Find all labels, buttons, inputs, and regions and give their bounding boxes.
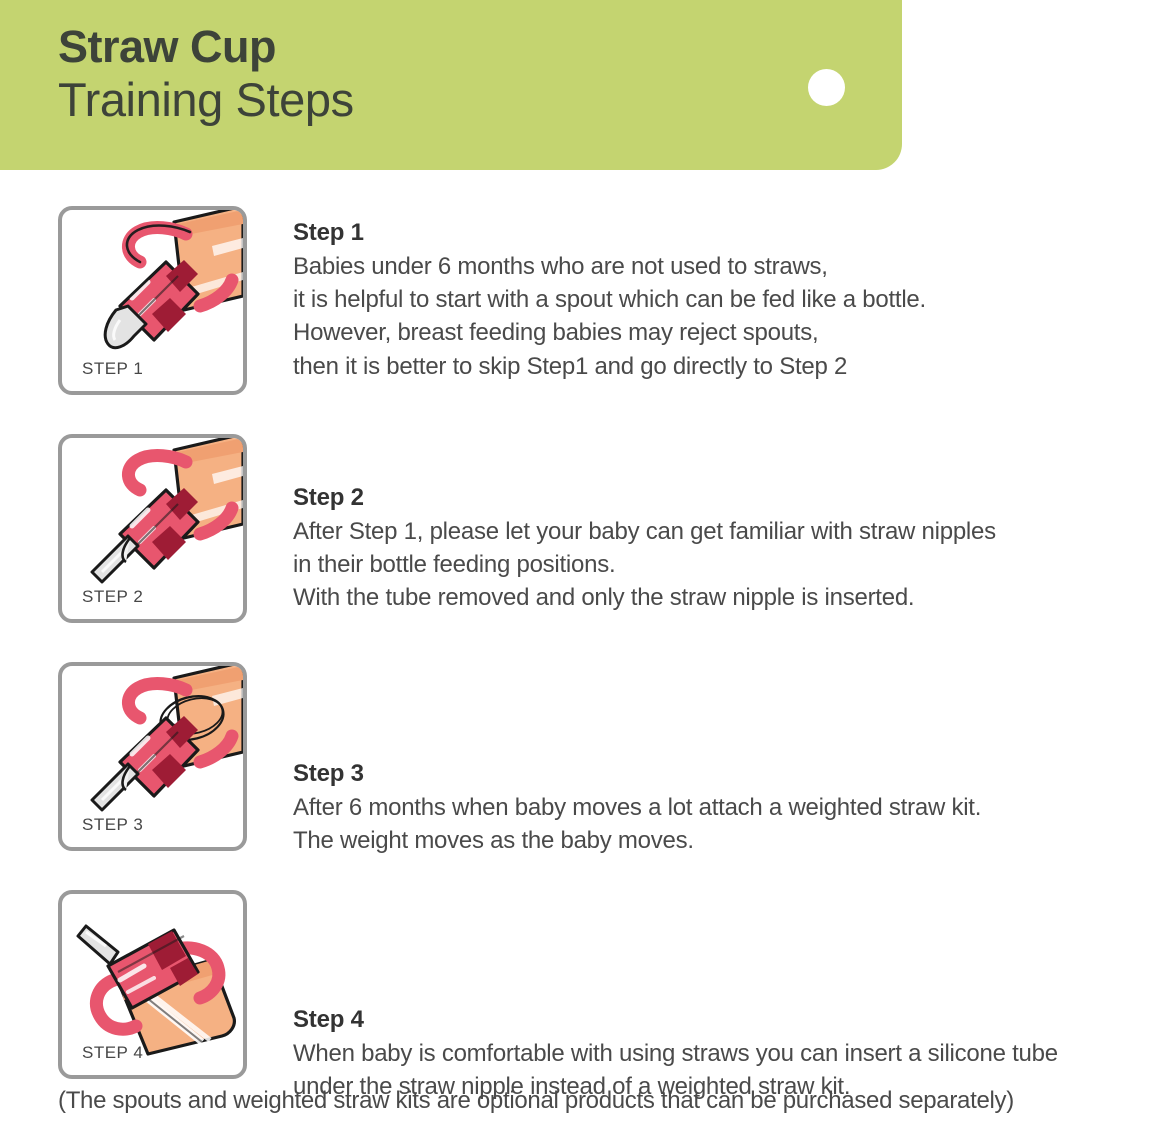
step-1-illustration-box: STEP 1 bbox=[58, 206, 247, 395]
step-1-line-2: it is helpful to start with a spout whic… bbox=[293, 283, 1166, 316]
step-2-line-1: After Step 1, please let your baby can g… bbox=[293, 515, 1166, 548]
step-1-heading: Step 1 bbox=[293, 217, 1166, 248]
step-1-caption: STEP 1 bbox=[82, 359, 143, 379]
step-3-text: Step 3 After 6 months when baby moves a … bbox=[293, 758, 1166, 857]
punch-hole-icon bbox=[808, 69, 845, 106]
step-2-text: Step 2 After Step 1, please let your bab… bbox=[293, 482, 1166, 615]
step-3-caption: STEP 3 bbox=[82, 815, 143, 835]
step-4-line-1: When baby is comfortable with using stra… bbox=[293, 1037, 1166, 1070]
step-row: STEP 2 Step 2 After Step 1, please let y… bbox=[0, 434, 1166, 662]
step-1-text: Step 1 Babies under 6 months who are not… bbox=[293, 217, 1166, 383]
step-3-heading: Step 3 bbox=[293, 758, 1166, 789]
step-4-caption: STEP 4 bbox=[82, 1043, 143, 1063]
step-row: STEP 4 Step 4 When baby is comfortable w… bbox=[0, 890, 1166, 1118]
step-1-line-3: However, breast feeding babies may rejec… bbox=[293, 316, 1166, 349]
step-4-illustration-box: STEP 4 bbox=[58, 890, 247, 1079]
step-2-line-3: With the tube removed and only the straw… bbox=[293, 581, 1166, 614]
header-title-group: Straw Cup Training Steps bbox=[58, 22, 354, 127]
page-subtitle: Training Steps bbox=[58, 74, 354, 127]
step-2-heading: Step 2 bbox=[293, 482, 1166, 513]
header-banner: Straw Cup Training Steps bbox=[0, 0, 902, 170]
page-title: Straw Cup bbox=[58, 22, 354, 72]
step-3-line-2: The weight moves as the baby moves. bbox=[293, 824, 1166, 857]
steps-list: STEP 1 Step 1 Babies under 6 months who … bbox=[0, 206, 1166, 1118]
step-row: STEP 1 Step 1 Babies under 6 months who … bbox=[0, 206, 1166, 434]
step-1-line-1: Babies under 6 months who are not used t… bbox=[293, 250, 1166, 283]
step-3-line-1: After 6 months when baby moves a lot att… bbox=[293, 791, 1166, 824]
step-3-illustration-box: STEP 3 bbox=[58, 662, 247, 851]
footer-note: (The spouts and weighted straw kits are … bbox=[58, 1087, 1014, 1115]
step-row: STEP 3 Step 3 After 6 months when baby m… bbox=[0, 662, 1166, 890]
step-2-line-2: in their bottle feeding positions. bbox=[293, 548, 1166, 581]
step-2-caption: STEP 2 bbox=[82, 587, 143, 607]
step-1-line-4: then it is better to skip Step1 and go d… bbox=[293, 350, 1166, 383]
step-2-illustration-box: STEP 2 bbox=[58, 434, 247, 623]
step-4-heading: Step 4 bbox=[293, 1004, 1166, 1035]
